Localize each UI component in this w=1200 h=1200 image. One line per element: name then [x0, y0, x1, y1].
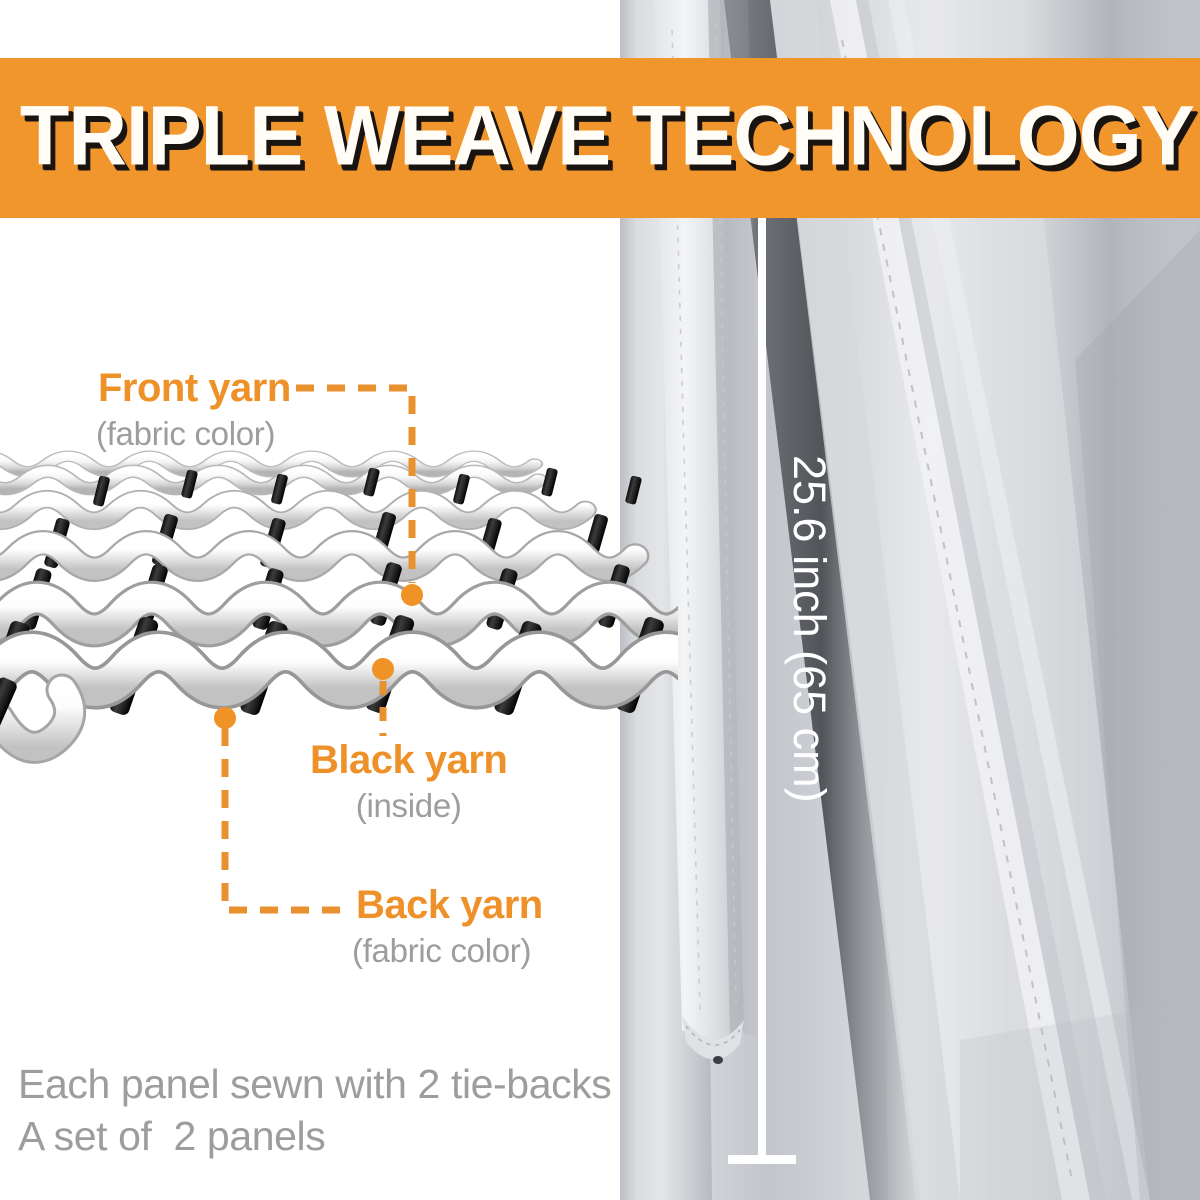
- callout-front-yarn: Front yarn (fabric color): [98, 368, 291, 450]
- header-banner: TRIPLE WEAVE TECHNOLOGY: [0, 58, 1200, 218]
- note-line-1: Each panel sewn with 2 tie-backs: [18, 1058, 611, 1110]
- callout-front-yarn-sublabel: (fabric color): [96, 417, 291, 450]
- infographic-canvas: 25.6 inch (65 cm) TRIPLE WEAVE TECHNOLOG…: [0, 0, 1200, 1200]
- product-notes: Each panel sewn with 2 tie-backs A set o…: [18, 1058, 611, 1163]
- callout-black-yarn-label: Black yarn: [310, 740, 507, 780]
- note-line-2: A set of 2 panels: [18, 1110, 611, 1162]
- page-title-text: TRIPLE WEAVE TECHNOLOGY: [20, 88, 1194, 185]
- callout-black-yarn-sublabel: (inside): [310, 789, 507, 822]
- callout-black-yarn: Black yarn (inside): [310, 740, 507, 822]
- page-title: TRIPLE WEAVE TECHNOLOGY: [14, 88, 1200, 185]
- callout-back-yarn: Back yarn (fabric color): [356, 885, 543, 967]
- callout-back-yarn-sublabel: (fabric color): [352, 934, 543, 967]
- callout-back-yarn-label: Back yarn: [356, 885, 543, 925]
- callout-front-yarn-label: Front yarn: [98, 368, 291, 408]
- dimension-label: 25.6 inch (65 cm): [783, 455, 835, 803]
